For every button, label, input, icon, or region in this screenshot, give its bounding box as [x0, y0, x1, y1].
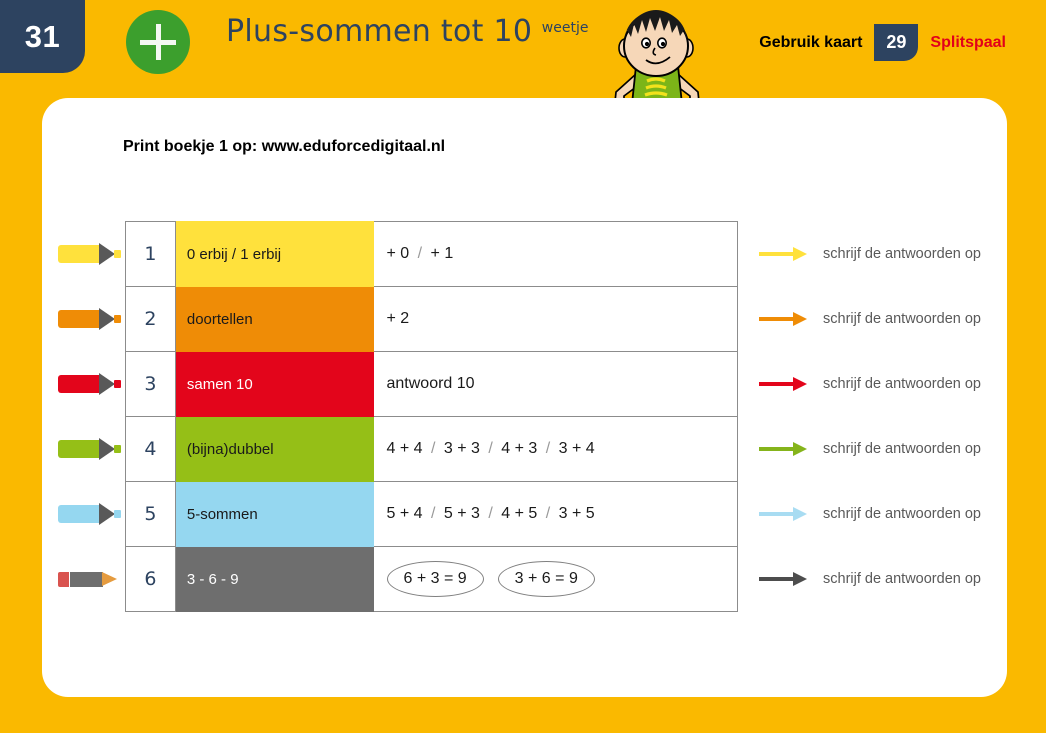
marker-nib — [114, 510, 121, 518]
arrow-head — [793, 507, 807, 521]
arrow-note-row: schrijf de antwoorden op — [759, 221, 1007, 286]
arrow-shaft — [759, 577, 797, 582]
arrow-note-label: schrijf de antwoorden op — [811, 441, 981, 457]
arrow-icon — [759, 310, 811, 328]
sum-oval-group: 6 + 3 = 93 + 6 = 9 — [387, 561, 738, 597]
sums-cell: 5 + 4 / 5 + 3 / 4 + 5 / 3 + 5 — [373, 482, 738, 547]
arrow-note-row: schrijf de antwoorden op — [759, 351, 1007, 416]
marker-tip — [99, 373, 115, 395]
arrow-note-row: schrijf de antwoorden op — [759, 546, 1007, 611]
marker-nib — [114, 315, 121, 323]
arrow-note-label: schrijf de antwoorden op — [811, 246, 981, 262]
strategy-label: 0 erbij / 1 erbij — [175, 222, 373, 287]
plus-icon-vertical-bar — [156, 24, 161, 60]
arrow-icon — [759, 440, 811, 458]
card-number-value: 31 — [25, 21, 60, 52]
arrow-note-row: schrijf de antwoorden op — [759, 481, 1007, 546]
sums-cell: 4 + 4 / 3 + 3 / 4 + 3 / 3 + 4 — [373, 417, 738, 482]
sum-oval: 6 + 3 = 9 — [387, 561, 484, 597]
arrow-head — [793, 572, 807, 586]
page-title-superscript: weetje — [542, 20, 589, 36]
page-title: Plus-sommen tot 10 — [226, 14, 532, 49]
use-card-name: Splitspaal — [918, 24, 1006, 61]
sums-cell: antwoord 10 — [373, 352, 738, 417]
marker-cell — [42, 416, 125, 481]
pencil-body — [70, 572, 103, 587]
arrow-note-label: schrijf de antwoorden op — [811, 376, 981, 392]
highlighter-orange-icon — [58, 308, 122, 330]
print-note: Print boekje 1 op: www.eduforcedigitaal.… — [123, 138, 445, 156]
arrow-head — [793, 247, 807, 261]
strategy-label: 3 - 6 - 9 — [175, 547, 373, 612]
marker-cell — [42, 481, 125, 546]
content-card: Print boekje 1 op: www.eduforcedigitaal.… — [42, 98, 1007, 697]
highlighter-red-icon — [58, 373, 122, 395]
highlighter-yellow-icon — [58, 243, 122, 265]
arrow-head — [793, 377, 807, 391]
arrow-note-label: schrijf de antwoorden op — [811, 311, 981, 327]
marker-body — [58, 310, 100, 328]
arrow-shaft — [759, 382, 797, 387]
use-card-reference: Gebruik kaart 29 Splitspaal — [759, 24, 1006, 61]
highlighter-lightblue-icon — [58, 503, 122, 525]
marker-nib — [114, 250, 121, 258]
marker-cell — [42, 546, 125, 611]
arrow-icon — [759, 570, 811, 588]
pencil-eraser — [58, 572, 69, 587]
arrow-note-row: schrijf de antwoorden op — [759, 286, 1007, 351]
strategy-table-body: 10 erbij / 1 erbij+ 0 / + 12doortellen+ … — [126, 222, 738, 612]
row-number: 2 — [126, 287, 176, 352]
marker-tip — [99, 308, 115, 330]
marker-cell — [42, 351, 125, 416]
table-row: 3samen 10antwoord 10 — [126, 352, 738, 417]
table-row: 4(bijna)dubbel4 + 4 / 3 + 3 / 4 + 3 / 3 … — [126, 417, 738, 482]
marker-body — [58, 440, 100, 458]
sums-cell: + 0 / + 1 — [373, 222, 738, 287]
arrow-shaft — [759, 252, 797, 257]
pencil-tip — [102, 572, 117, 586]
arrow-head — [793, 312, 807, 326]
row-number: 5 — [126, 482, 176, 547]
marker-tip — [99, 438, 115, 460]
marker-tip — [99, 503, 115, 525]
marker-body — [58, 375, 100, 393]
arrow-note-label: schrijf de antwoorden op — [811, 571, 981, 587]
arrow-shaft — [759, 512, 797, 517]
marker-body — [58, 505, 100, 523]
highlighter-green-icon — [58, 438, 122, 460]
table-row: 63 - 6 - 96 + 3 = 93 + 6 = 9 — [126, 547, 738, 612]
table-row: 10 erbij / 1 erbij+ 0 / + 1 — [126, 222, 738, 287]
arrow-note-row: schrijf de antwoorden op — [759, 416, 1007, 481]
sum-oval: 3 + 6 = 9 — [498, 561, 595, 597]
strategy-label: doortellen — [175, 287, 373, 352]
marker-cell — [42, 286, 125, 351]
arrow-icon — [759, 375, 811, 393]
arrow-note-label: schrijf de antwoorden op — [811, 506, 981, 522]
use-card-label: Gebruik kaart — [759, 24, 874, 61]
arrow-shaft — [759, 317, 797, 322]
use-card-badge: 29 — [874, 24, 918, 61]
strategy-label: (bijna)dubbel — [175, 417, 373, 482]
arrow-icon — [759, 505, 811, 523]
row-number: 1 — [126, 222, 176, 287]
arrow-icon — [759, 245, 811, 263]
strategy-label: samen 10 — [175, 352, 373, 417]
strategy-label: 5-sommen — [175, 482, 373, 547]
sums-cell: + 2 — [373, 287, 738, 352]
header-bar: 31 Plus-sommen tot 10 weetje — [0, 0, 1046, 98]
row-number: 4 — [126, 417, 176, 482]
marker-tip — [99, 243, 115, 265]
pencil-gray-icon — [58, 568, 122, 590]
row-number: 3 — [126, 352, 176, 417]
plus-icon — [126, 10, 190, 74]
marker-nib — [114, 380, 121, 388]
sums-cell: 6 + 3 = 93 + 6 = 9 — [373, 547, 738, 612]
arrow-shaft — [759, 447, 797, 452]
marker-nib — [114, 445, 121, 453]
title-block: Plus-sommen tot 10 weetje — [226, 14, 588, 49]
marker-body — [58, 245, 100, 263]
marker-column — [42, 221, 125, 611]
strategy-table: 10 erbij / 1 erbij+ 0 / + 12doortellen+ … — [125, 221, 738, 612]
arrow-head — [793, 442, 807, 456]
marker-cell — [42, 221, 125, 286]
table-row: 55-sommen5 + 4 / 5 + 3 / 4 + 5 / 3 + 5 — [126, 482, 738, 547]
use-card-number: 29 — [886, 32, 906, 53]
card-number-badge: 31 — [0, 0, 85, 73]
table-row: 2doortellen+ 2 — [126, 287, 738, 352]
row-number: 6 — [126, 547, 176, 612]
arrow-notes-column: schrijf de antwoorden opschrijf de antwo… — [759, 221, 1007, 611]
